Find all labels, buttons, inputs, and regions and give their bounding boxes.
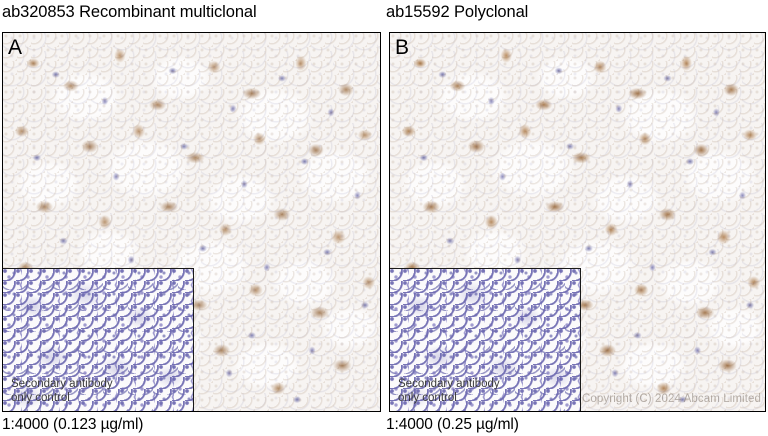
- panel-a: ab320853 Recombinant multiclonal A Secon…: [0, 0, 384, 436]
- ihc-comparison-figure: ab320853 Recombinant multiclonal A Secon…: [0, 0, 768, 436]
- panel-a-caption: 1:4000 (0.123 µg/ml): [2, 415, 143, 434]
- panel-a-micrograph: A Secondary antibody only control: [2, 32, 381, 412]
- panel-a-title: ab320853 Recombinant multiclonal: [2, 2, 257, 22]
- panel-b: ab15592 Polyclonal B Secondary antibody …: [384, 0, 768, 436]
- panel-a-control-inset-label: Secondary antibody only control: [11, 377, 113, 405]
- panel-b-letter: B: [395, 37, 409, 58]
- panel-b-control-inset-label: Secondary antibody only control: [398, 377, 500, 405]
- panel-b-micrograph: B Secondary antibody only control Copyri…: [389, 32, 766, 412]
- panel-b-caption: 1:4000 (0.25 µg/ml): [386, 415, 519, 434]
- panel-a-letter: A: [8, 37, 22, 58]
- panel-b-title: ab15592 Polyclonal: [386, 2, 528, 22]
- panel-a-control-inset: Secondary antibody only control: [2, 268, 194, 412]
- panel-b-watermark: Copyright (C) 2024 Abcam Limited: [582, 392, 761, 406]
- panel-b-control-inset: Secondary antibody only control: [389, 268, 581, 412]
